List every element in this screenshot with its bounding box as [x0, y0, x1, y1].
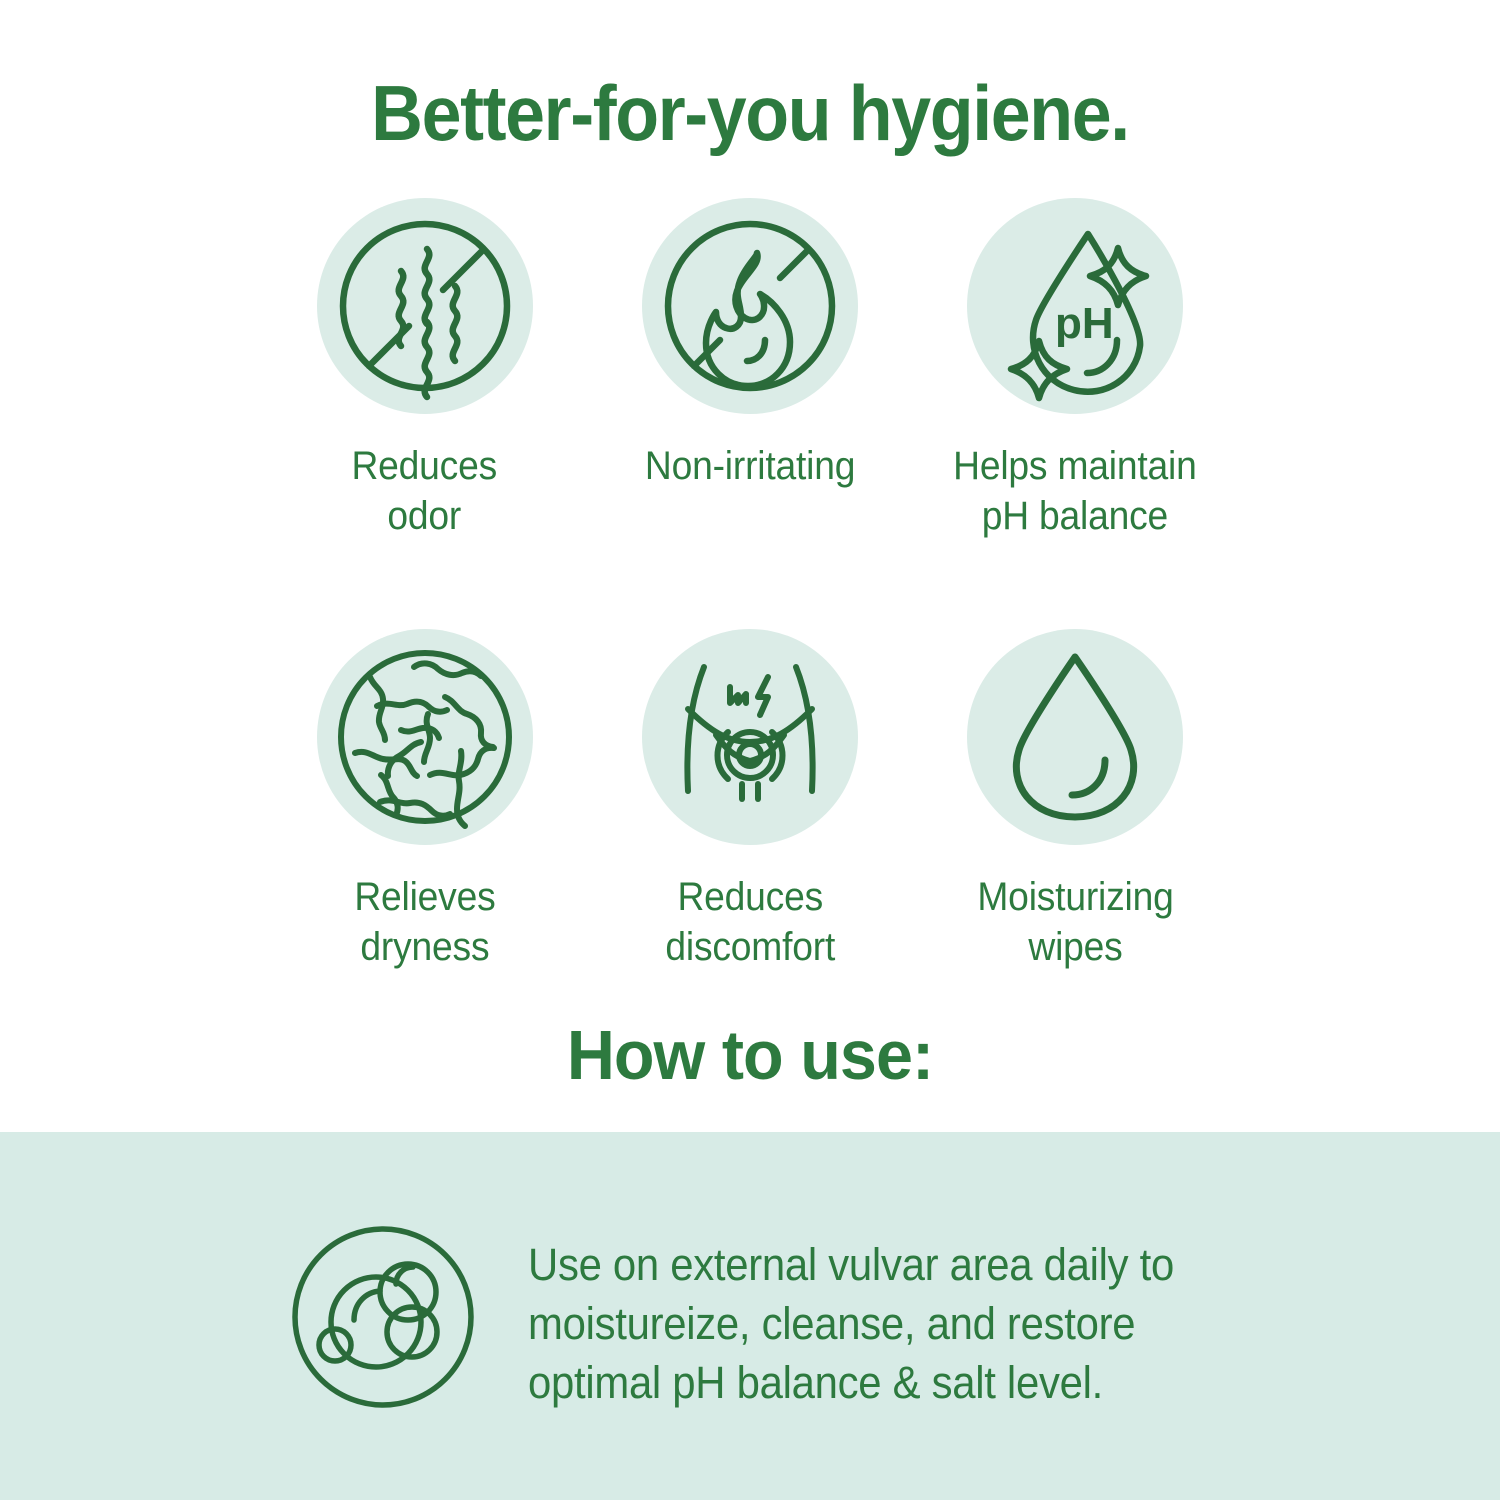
benefit-item-reduces-discomfort: Reducesdiscomfort — [587, 629, 912, 972]
benefit-item-non-irritating: Non-irritating — [587, 198, 912, 541]
benefit-label: Reducesodor — [352, 442, 498, 541]
how-to-use-content: Use on external vulvar area daily to moi… — [288, 1222, 1223, 1413]
benefit-label: Reducesdiscomfort — [665, 873, 835, 972]
benefit-label: Non-irritating — [645, 442, 855, 492]
benefit-label: Moisturizingwipes — [977, 873, 1173, 972]
how-to-use-band: Use on external vulvar area daily to moi… — [0, 1132, 1500, 1500]
page-title: Better-for-you hygiene. — [60, 74, 1440, 152]
benefit-item-ph-balance: pH Helps maintainpH balance — [913, 198, 1238, 541]
no-flame-icon — [642, 198, 858, 414]
benefit-item-relieves-dryness: Relievesdryness — [262, 629, 587, 972]
water-droplet-icon — [967, 629, 1183, 845]
how-to-use-heading: How to use: — [38, 1020, 1463, 1090]
how-to-use-instruction: Use on external vulvar area daily to moi… — [528, 1222, 1174, 1413]
benefit-label: Helps maintainpH balance — [954, 442, 1197, 541]
bubbles-icon — [288, 1222, 478, 1412]
ph-droplet-icon: pH — [967, 198, 1183, 414]
benefit-item-moisturizing-wipes: Moisturizingwipes — [913, 629, 1238, 972]
benefit-label: Relievesdryness — [354, 873, 495, 972]
no-odor-icon — [317, 198, 533, 414]
infographic-canvas: Better-for-you hygiene. Reducesodor — [0, 0, 1500, 1500]
benefit-item-reduces-odor: Reducesodor — [262, 198, 587, 541]
ph-label: pH — [1055, 299, 1114, 348]
pelvic-pain-icon — [642, 629, 858, 845]
dry-skin-icon — [317, 629, 533, 845]
benefit-grid: Reducesodor Non-irritating — [262, 198, 1238, 972]
